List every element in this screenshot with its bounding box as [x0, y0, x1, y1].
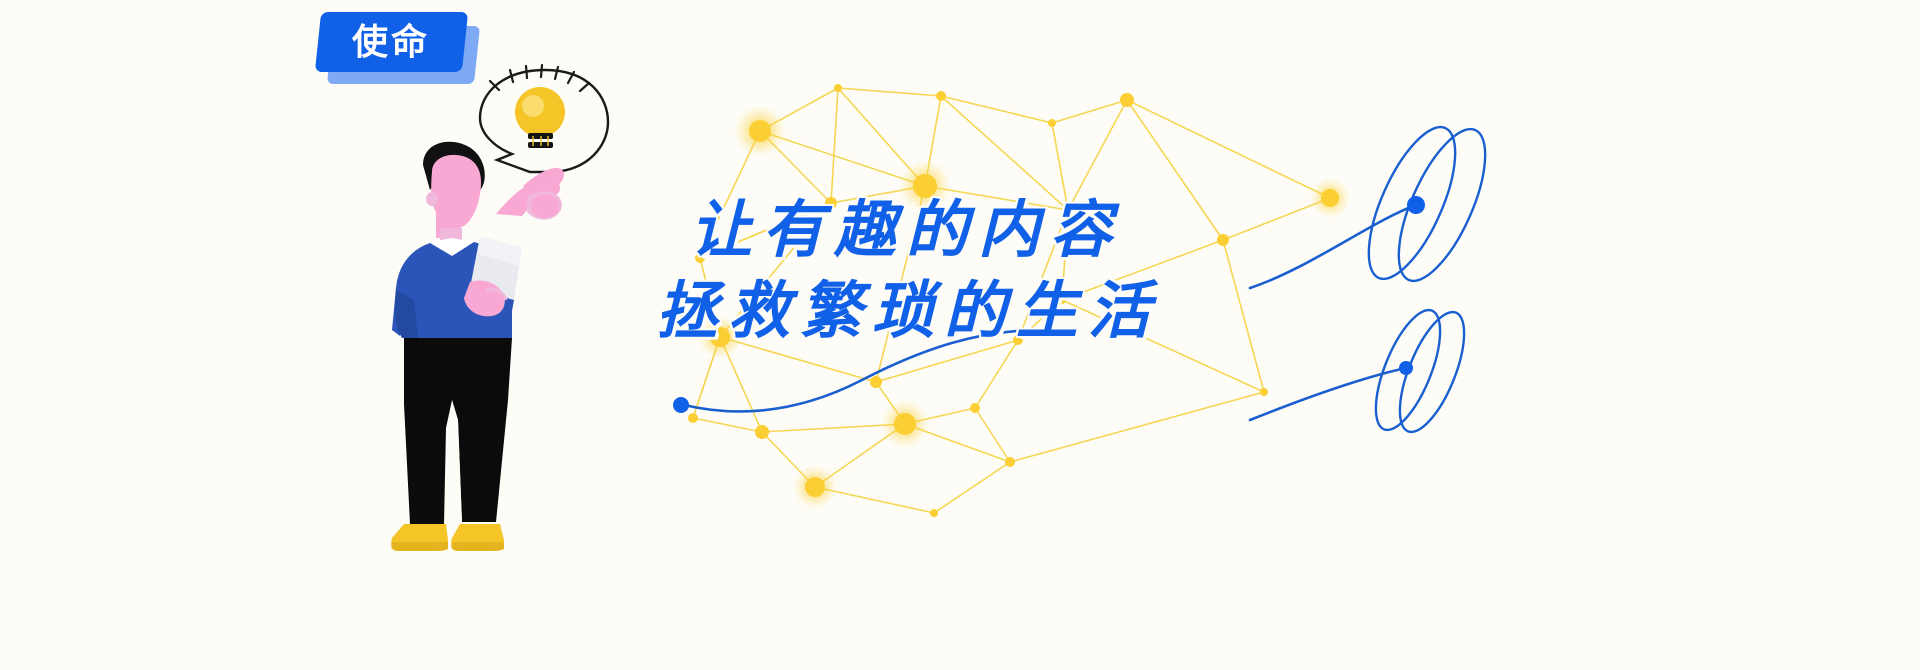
- badge-label: 使命: [352, 24, 430, 60]
- badge-plate: 使命: [315, 12, 468, 72]
- mission-badge: 使命: [318, 12, 488, 94]
- person-pointing-arm: [496, 168, 564, 220]
- person-ear: [426, 192, 438, 206]
- person-illustration: [0, 0, 1920, 670]
- mission-banner: 让有趣的内容 拯救繁琐的生活 使命: [0, 0, 1920, 670]
- person-head: [431, 155, 481, 238]
- person-shoes: [391, 524, 504, 551]
